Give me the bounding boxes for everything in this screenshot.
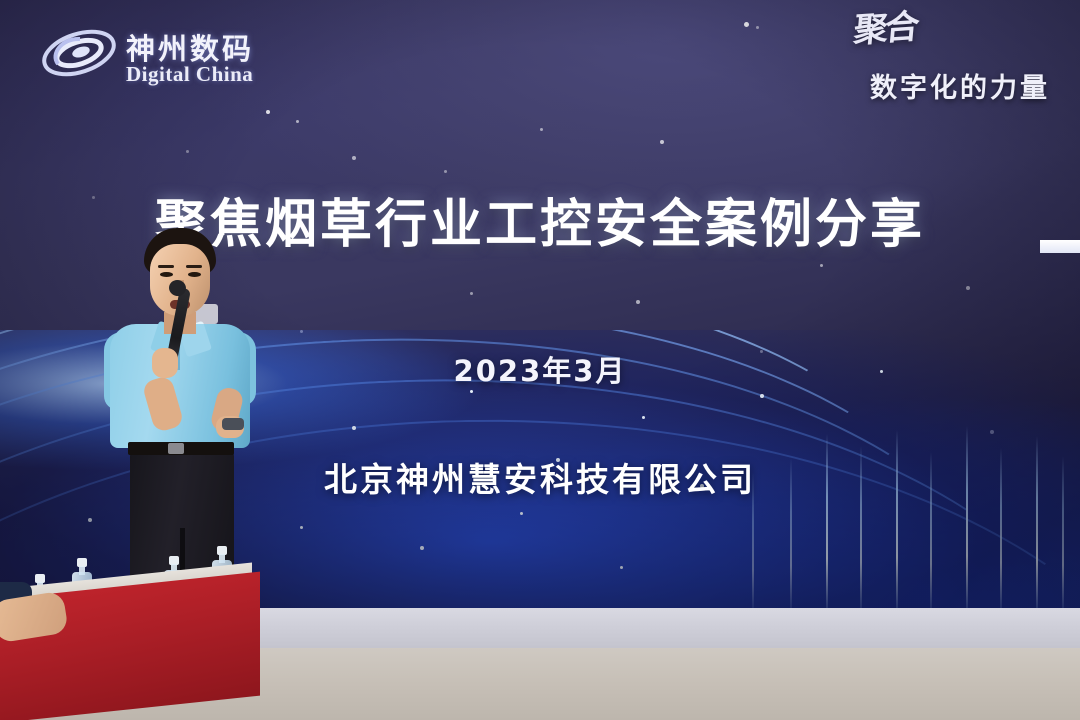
event-slogan: 聚合 数字化的力量 <box>796 14 1056 110</box>
slogan-subtitle: 数字化的力量 <box>870 66 1050 105</box>
speaker-left-hand <box>152 348 178 378</box>
slogan-calligraphy: 聚合 <box>852 12 917 47</box>
digital-china-swirl-logo-icon <box>40 24 118 82</box>
speaker-eye-left <box>160 272 173 277</box>
presentation-clicker-icon <box>222 418 244 430</box>
brand-name-en: Digital China <box>126 62 253 87</box>
presentation-photo: 神州数码 Digital China 聚合 数字化的力量 聚焦烟草行业工控安全案… <box>0 0 1080 720</box>
speaker-eyebrow-right <box>186 265 202 268</box>
screen-edge-bar-graphic <box>1040 240 1080 253</box>
brand-logo: 神州数码 Digital China <box>40 18 300 88</box>
speaker-eyebrow-left <box>158 265 174 268</box>
speaker-eye-right <box>188 272 201 277</box>
speaker-belt-buckle <box>168 443 184 454</box>
